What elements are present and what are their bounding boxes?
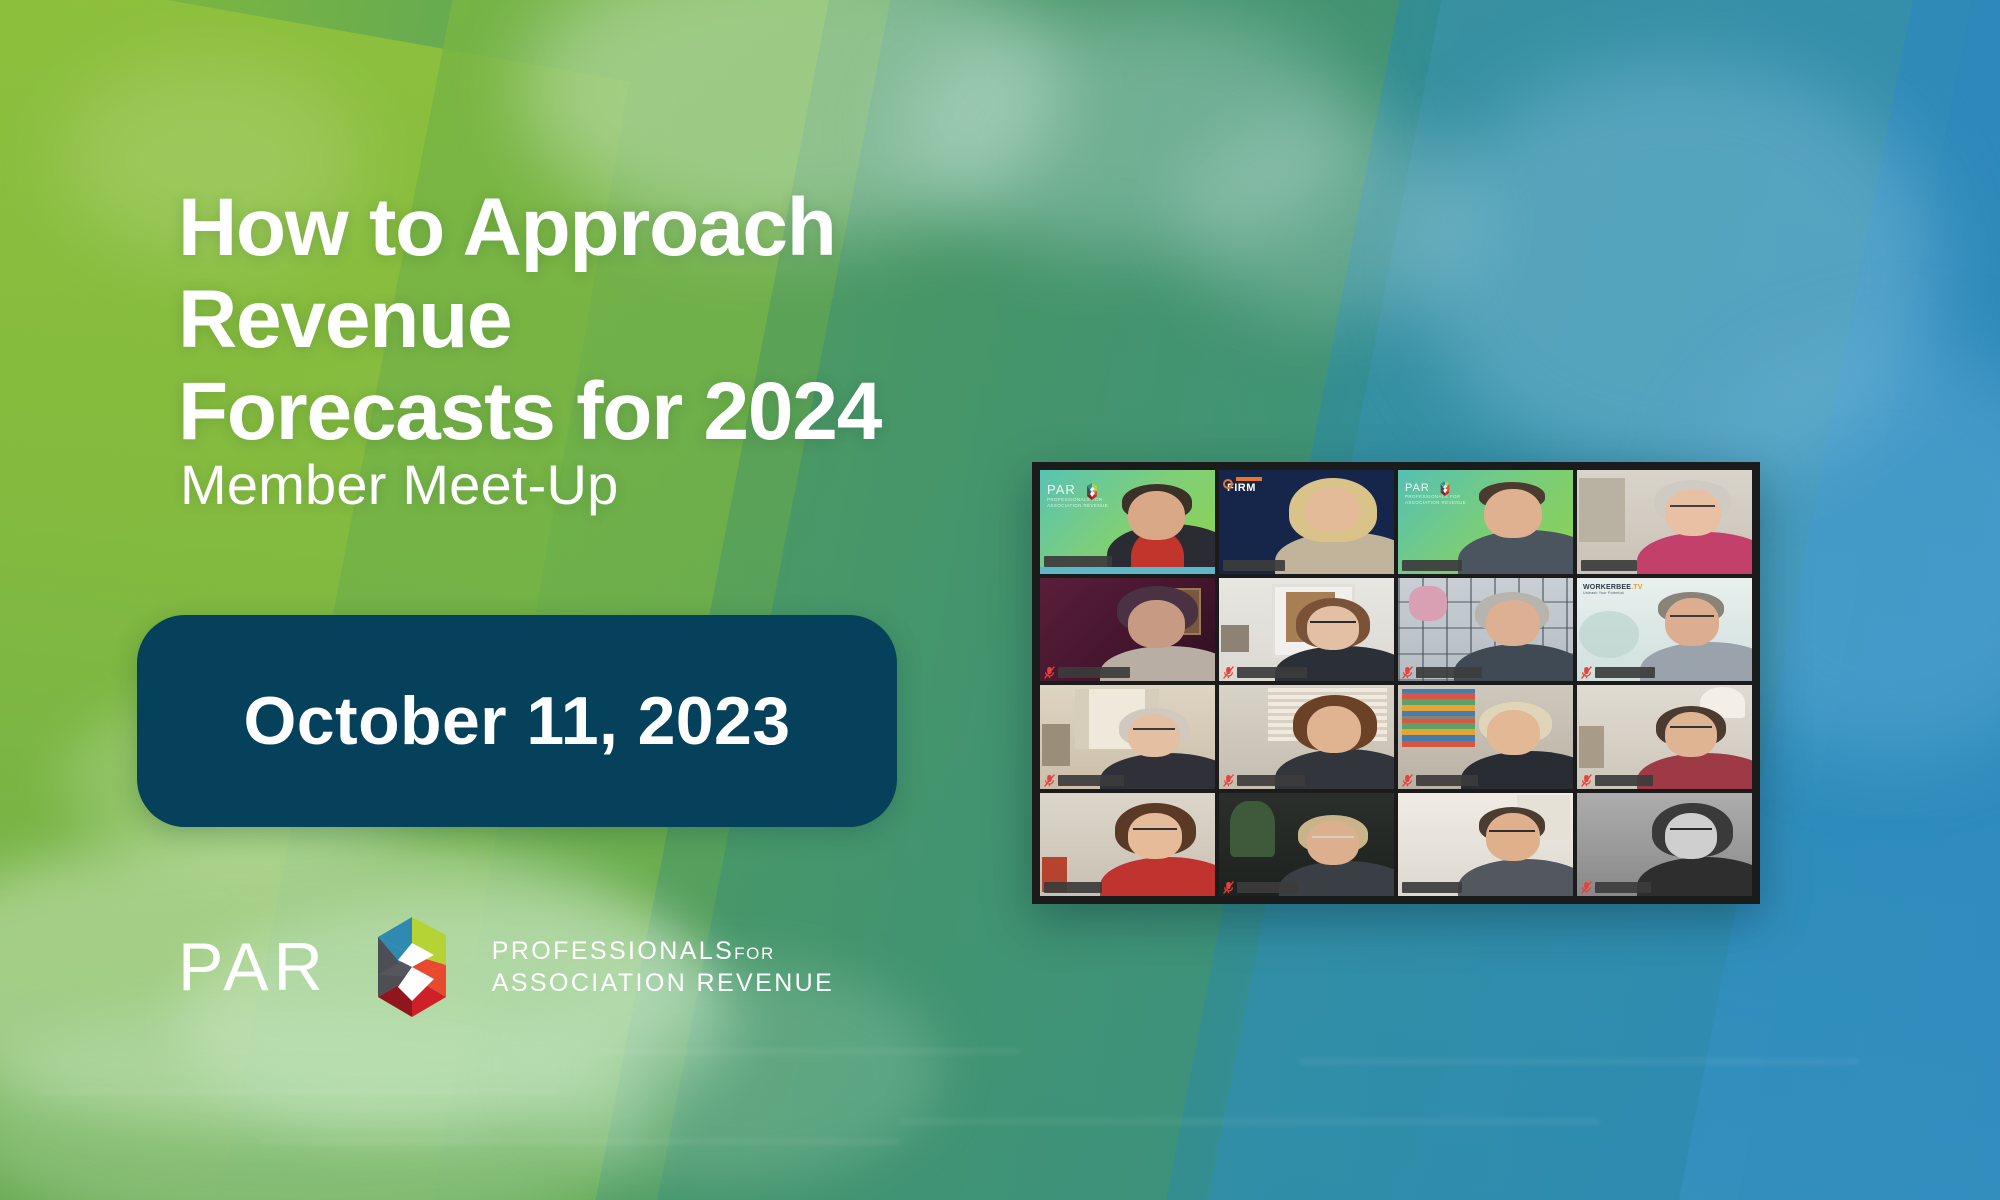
water-streak: [900, 1120, 1600, 1123]
mute-icon: [1581, 774, 1592, 787]
par-wordmark: PAR: [178, 933, 328, 1001]
content-column: How to Approach Revenue Forecasts for 20…: [0, 0, 1000, 1200]
zoom-meeting-screenshot: PAR PROFESSIONALS FOR ASSOCIATION REVENU…: [1032, 462, 1760, 904]
tile-name-redacted: [1402, 882, 1462, 893]
mute-icon: [1581, 881, 1592, 894]
tile-name-redacted: [1237, 775, 1305, 786]
page-title: How to Approach Revenue Forecasts for 20…: [178, 182, 1178, 457]
zoom-tile-8[interactable]: WORKERBEE.TV Unleash Your Potential: [1577, 578, 1752, 682]
zoom-tile-4[interactable]: [1577, 470, 1752, 574]
title-line-1: How to Approach Revenue: [178, 182, 836, 365]
tile-name-redacted: [1416, 775, 1478, 786]
tile-virtual-bg-par-logo: PAR PROFESSIONALS FOR ASSOCIATION REVENU…: [1405, 482, 1466, 506]
tile-name-redacted: [1402, 560, 1462, 571]
zoom-tile-14[interactable]: [1219, 793, 1394, 897]
par-tagline-professionals: PROFESSIONALS: [492, 937, 734, 965]
zoom-tile-11[interactable]: [1398, 685, 1573, 789]
zoom-tile-2[interactable]: FIRM: [1219, 470, 1394, 574]
mute-icon: [1223, 881, 1234, 894]
title-line-2: Forecasts for 2024: [178, 366, 1178, 458]
tile-name-redacted: [1595, 882, 1651, 893]
zoom-tile-13[interactable]: [1040, 793, 1215, 897]
mute-icon: [1044, 666, 1055, 679]
tile-name-redacted: [1237, 882, 1299, 893]
zoom-participant-grid: PAR PROFESSIONALS FOR ASSOCIATION REVENU…: [1040, 470, 1752, 896]
promo-graphic: How to Approach Revenue Forecasts for 20…: [0, 0, 2000, 1200]
zoom-tile-12[interactable]: [1577, 685, 1752, 789]
par-tagline: PROFESSIONALSFOR ASSOCIATION REVENUE: [492, 935, 834, 999]
tile-par-cube-icon: [1084, 483, 1100, 500]
subtitle: Member Meet-Up: [180, 452, 618, 517]
mute-icon: [1044, 774, 1055, 787]
tile-name-redacted: [1595, 775, 1653, 786]
mute-icon: [1402, 774, 1413, 787]
zoom-tile-16[interactable]: [1577, 793, 1752, 897]
tile-name-redacted: [1595, 667, 1655, 678]
zoom-tile-9[interactable]: [1040, 685, 1215, 789]
tile-name-redacted: [1581, 560, 1637, 571]
mute-icon: [1402, 666, 1413, 679]
par-logo: PAR: [178, 915, 834, 1019]
tile-workerbee-logo: WORKERBEE.TV: [1583, 584, 1643, 591]
mute-icon: [1581, 666, 1592, 679]
zoom-tile-5[interactable]: [1040, 578, 1215, 682]
par-cube-icon: [358, 915, 466, 1019]
tile-par-cube-icon: [1438, 481, 1452, 496]
date-badge-label: October 11, 2023: [244, 682, 791, 760]
date-badge: October 11, 2023: [137, 615, 897, 827]
tile-name-redacted: [1223, 560, 1285, 571]
tile-name-redacted: [1237, 667, 1307, 678]
water-streak: [1300, 1060, 1860, 1063]
mute-icon: [1223, 666, 1234, 679]
mute-icon: [1223, 774, 1234, 787]
par-tagline-line-1: PROFESSIONALSFOR: [492, 935, 834, 967]
tile-name-redacted: [1044, 556, 1112, 567]
par-tagline-for: FOR: [734, 944, 775, 963]
zoom-tile-3[interactable]: PAR PROFESSIONALS FOR ASSOCIATION REVENU…: [1398, 470, 1573, 574]
tile-name-redacted: [1058, 667, 1130, 678]
zoom-tile-15[interactable]: [1398, 793, 1573, 897]
tile-name-redacted: [1044, 882, 1102, 893]
tile-name-redacted: [1416, 667, 1482, 678]
zoom-tile-10[interactable]: [1219, 685, 1394, 789]
zoom-tile-7[interactable]: [1398, 578, 1573, 682]
tile-name-redacted: [1058, 775, 1124, 786]
par-tagline-line-2: ASSOCIATION REVENUE: [492, 967, 834, 999]
zoom-tile-6[interactable]: [1219, 578, 1394, 682]
zoom-tile-1[interactable]: PAR PROFESSIONALS FOR ASSOCIATION REVENU…: [1040, 470, 1215, 574]
